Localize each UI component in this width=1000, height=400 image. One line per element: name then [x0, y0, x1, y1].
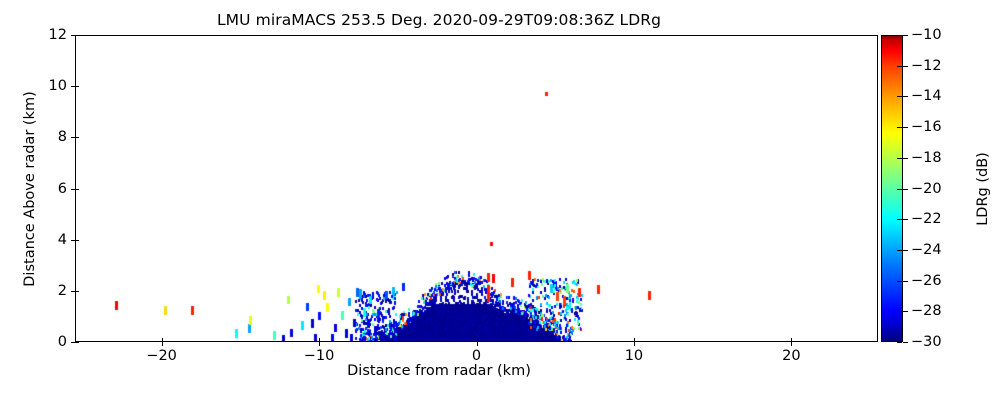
- colorbar-tick-mark: [903, 311, 908, 312]
- y-tick-label: 2: [41, 283, 67, 299]
- colorbar-tick-mark-inner: [897, 189, 902, 190]
- y-tick-label: 6: [41, 181, 67, 197]
- y-tick-label: 4: [41, 232, 67, 248]
- x-tick-label: −20: [146, 348, 177, 364]
- x-axis-title: Distance from radar (km): [0, 363, 878, 379]
- colorbar-tick-mark: [903, 189, 908, 190]
- x-tick-mark-inner: [319, 338, 320, 342]
- y-tick-mark-inner: [75, 35, 79, 36]
- colorbar-tick-label: −16: [911, 119, 942, 135]
- colorbar-tick-mark: [903, 158, 908, 159]
- x-tick-label: 20: [782, 348, 800, 364]
- y-axis-title: Distance Above radar (km): [22, 91, 38, 286]
- colorbar-tick-label: −18: [911, 150, 942, 166]
- colorbar-tick-mark: [903, 127, 908, 128]
- plot-axes: [75, 35, 878, 342]
- y-tick-label: 0: [41, 334, 67, 350]
- x-tick-label: 10: [625, 348, 643, 364]
- y-tick-mark-inner: [75, 240, 79, 241]
- x-tick-label: 0: [472, 348, 481, 364]
- colorbar-tick-mark-inner: [897, 127, 902, 128]
- y-tick-mark-inner: [75, 189, 79, 190]
- colorbar-tick-mark: [903, 250, 908, 251]
- colorbar-tick-label: −28: [911, 303, 942, 319]
- colorbar-tick-label: −10: [911, 27, 942, 43]
- colorbar-title: LDRg (dB): [975, 152, 991, 226]
- x-tick-mark: [791, 342, 792, 346]
- colorbar-tick-mark-inner: [897, 66, 902, 67]
- y-tick-label: 10: [41, 78, 67, 94]
- colorbar-tick-label: −20: [911, 181, 942, 197]
- colorbar-tick-label: −14: [911, 88, 942, 104]
- x-tick-label: −10: [304, 348, 335, 364]
- colorbar-tick-mark-inner: [897, 311, 902, 312]
- colorbar-tick-mark-inner: [897, 35, 902, 36]
- y-tick-mark-inner: [75, 86, 79, 87]
- colorbar-tick-mark-inner: [897, 250, 902, 251]
- colorbar-tick-mark: [903, 342, 908, 343]
- colorbar-tick-mark: [903, 35, 908, 36]
- colorbar-tick-label: −24: [911, 242, 942, 258]
- scatter-data-layer: [76, 36, 878, 342]
- colorbar-tick-mark: [903, 281, 908, 282]
- colorbar-tick-mark: [903, 96, 908, 97]
- y-tick-label: 12: [41, 27, 67, 43]
- chart-title: LMU miraMACS 253.5 Deg. 2020-09-29T09:08…: [0, 11, 878, 29]
- x-tick-mark-inner: [634, 338, 635, 342]
- radar-rhi-figure: LMU miraMACS 253.5 Deg. 2020-09-29T09:08…: [0, 0, 1000, 400]
- colorbar-tick-mark-inner: [897, 219, 902, 220]
- colorbar-tick-label: −12: [911, 58, 942, 74]
- x-tick-mark: [634, 342, 635, 346]
- y-tick-mark-inner: [75, 342, 79, 343]
- x-tick-mark-inner: [791, 338, 792, 342]
- colorbar-tick-label: −30: [911, 334, 942, 350]
- colorbar-tick-mark: [903, 66, 908, 67]
- colorbar-tick-mark-inner: [897, 96, 902, 97]
- x-tick-mark: [319, 342, 320, 346]
- colorbar-tick-mark-inner: [897, 281, 902, 282]
- x-tick-mark: [162, 342, 163, 346]
- y-tick-mark-inner: [75, 137, 79, 138]
- colorbar-tick-label: −26: [911, 273, 942, 289]
- colorbar-tick-mark-inner: [897, 158, 902, 159]
- colorbar-tick-label: −22: [911, 211, 942, 227]
- colorbar-tick-mark: [903, 219, 908, 220]
- y-tick-mark-inner: [75, 291, 79, 292]
- x-tick-mark-inner: [162, 338, 163, 342]
- x-tick-mark-inner: [477, 338, 478, 342]
- x-tick-mark: [477, 342, 478, 346]
- colorbar-tick-mark-inner: [897, 342, 902, 343]
- y-tick-label: 8: [41, 129, 67, 145]
